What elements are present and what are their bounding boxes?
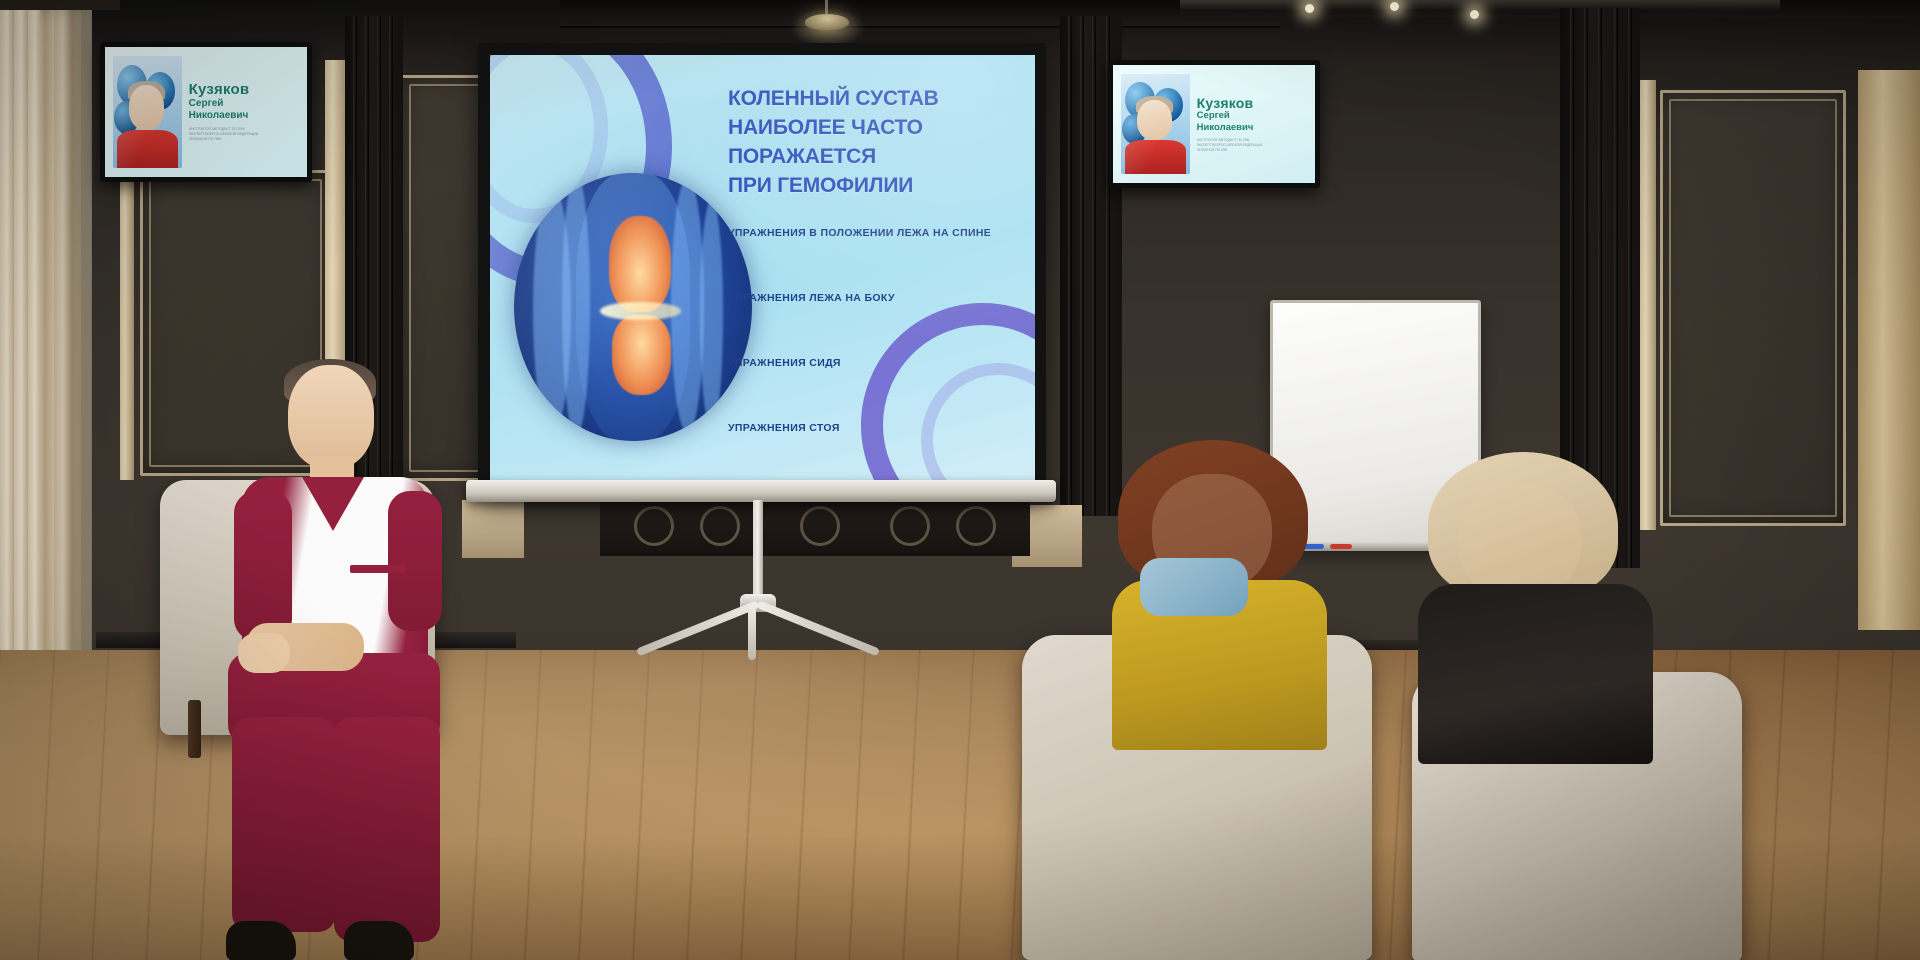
knee-joint-illustration (514, 173, 752, 441)
presenter-first-name: Сергей (189, 98, 301, 110)
attendee-1 (1118, 440, 1338, 730)
presenter-leg-left (232, 717, 336, 932)
slide-title-line-3: ПРИ ГЕМОФИЛИИ (728, 172, 1028, 201)
presenter-pocket (350, 565, 406, 573)
presenter-surname: Кузяков (189, 82, 301, 98)
presenter-surname: Кузяков (1197, 96, 1309, 111)
presenter-arm-left (234, 491, 292, 641)
chandelier (805, 14, 849, 30)
conference-room-scene: Кузяков Сергей Николаевич ИНСТРУКТОР-МЕТ… (0, 0, 1920, 960)
presenter-shoe (344, 921, 414, 960)
ornament-scroll (700, 506, 740, 546)
door[interactable] (1858, 70, 1920, 630)
presenter-patronymic: Николаевич (1197, 122, 1309, 133)
tv-text-block-right: Кузяков Сергей Николаевич ИНСТРУКТОР-МЕТ… (1193, 65, 1315, 183)
window-curtain-edge (0, 0, 40, 760)
presenter-person (228, 365, 458, 960)
presenter-arm-right (388, 491, 442, 631)
ornament-scroll (890, 506, 930, 546)
slide-bullet-item: УПРАЖНЕНИЯ СИДЯ (728, 357, 1028, 369)
slide-title-line-1: КОЛЕННЫЙ СУСТАВ (728, 85, 1028, 114)
tv-text-block-left: Кузяков Сергей Николаевич ИНСТРУКТОР-МЕТ… (185, 47, 307, 177)
spotlight-icon (1390, 2, 1399, 11)
wall-pilaster (120, 150, 134, 480)
presenter-credentials-line3: ЛЕЧЕБНОЙ ПО ЛФК (189, 138, 301, 142)
presenter-credentials-line2: ЭКСПЕРТ ВСЕРОССИЙСКОЙ ФЕДЕРАЦИИ (1197, 144, 1309, 148)
spotlight-icon (1470, 10, 1479, 19)
spotlight-icon (1305, 4, 1314, 13)
presenter-first-name: Сергей (1197, 110, 1309, 121)
presenter-shoe (226, 921, 296, 960)
slide-bullet-item: УПРАЖНЕНИЯ В ПОЛОЖЕНИИ ЛЕЖА НА СПИНЕ (728, 227, 1028, 239)
presenter-leg-right (334, 717, 440, 942)
tv-monitor-right[interactable]: Кузяков Сергей Николаевич ИНСТРУКТОР-МЕТ… (1108, 60, 1320, 188)
slide-title-line-2: НАИБОЛЕЕ ЧАСТО ПОРАЖАЕТСЯ (728, 114, 1028, 172)
curtain-rod (0, 0, 120, 10)
ceiling-light-rail (1180, 0, 1780, 10)
attendee-2-body (1418, 584, 1653, 764)
presenter-patronymic: Николаевич (189, 110, 301, 122)
tv-monitor-left[interactable]: Кузяков Сергей Николаевич ИНСТРУКТОР-МЕТ… (100, 42, 312, 182)
wall-panel-inner (1669, 99, 1837, 517)
tripod-leg (748, 604, 756, 660)
tv-screen-left: Кузяков Сергей Николаевич ИНСТРУКТОР-МЕТ… (105, 47, 307, 177)
projection-slide[interactable]: КОЛЕННЫЙ СУСТАВ НАИБОЛЕЕ ЧАСТО ПОРАЖАЕТС… (490, 55, 1035, 487)
ornament-scroll (634, 506, 674, 546)
chair-leg (188, 700, 201, 758)
wall-panel-right (1660, 90, 1846, 526)
tripod-post (753, 500, 763, 608)
ornament-scroll (800, 506, 840, 546)
slide-bullet-item: УПРАЖНЕНИЯ ЛЕЖА НА БОКУ (728, 292, 1028, 304)
projection-screen-case (466, 480, 1056, 502)
presenter-photo-left (113, 56, 182, 168)
attendee-2 (1428, 452, 1658, 752)
ornament-scroll (956, 506, 996, 546)
presenter-photo-right (1121, 74, 1190, 174)
tv-screen-right: Кузяков Сергей Николаевич ИНСТРУКТОР-МЕТ… (1113, 65, 1315, 183)
presenter-hand (238, 633, 290, 673)
slide-bullet-list: УПРАЖНЕНИЯ В ПОЛОЖЕНИИ ЛЕЖА НА СПИНЕ УПР… (728, 227, 1028, 487)
ceiling-beam (560, 0, 1280, 28)
presenter-head (288, 365, 374, 469)
column-plinth (462, 500, 524, 558)
attendee-1-scarf (1140, 558, 1248, 616)
slide-bullet-item: УПРАЖНЕНИЯ СТОЯ (728, 422, 1028, 434)
presenter-credentials-line3: ЛЕЧЕБНОЙ ПО ЛФК (1197, 149, 1309, 153)
slide-title: КОЛЕННЫЙ СУСТАВ НАИБОЛЕЕ ЧАСТО ПОРАЖАЕТС… (728, 85, 1028, 201)
